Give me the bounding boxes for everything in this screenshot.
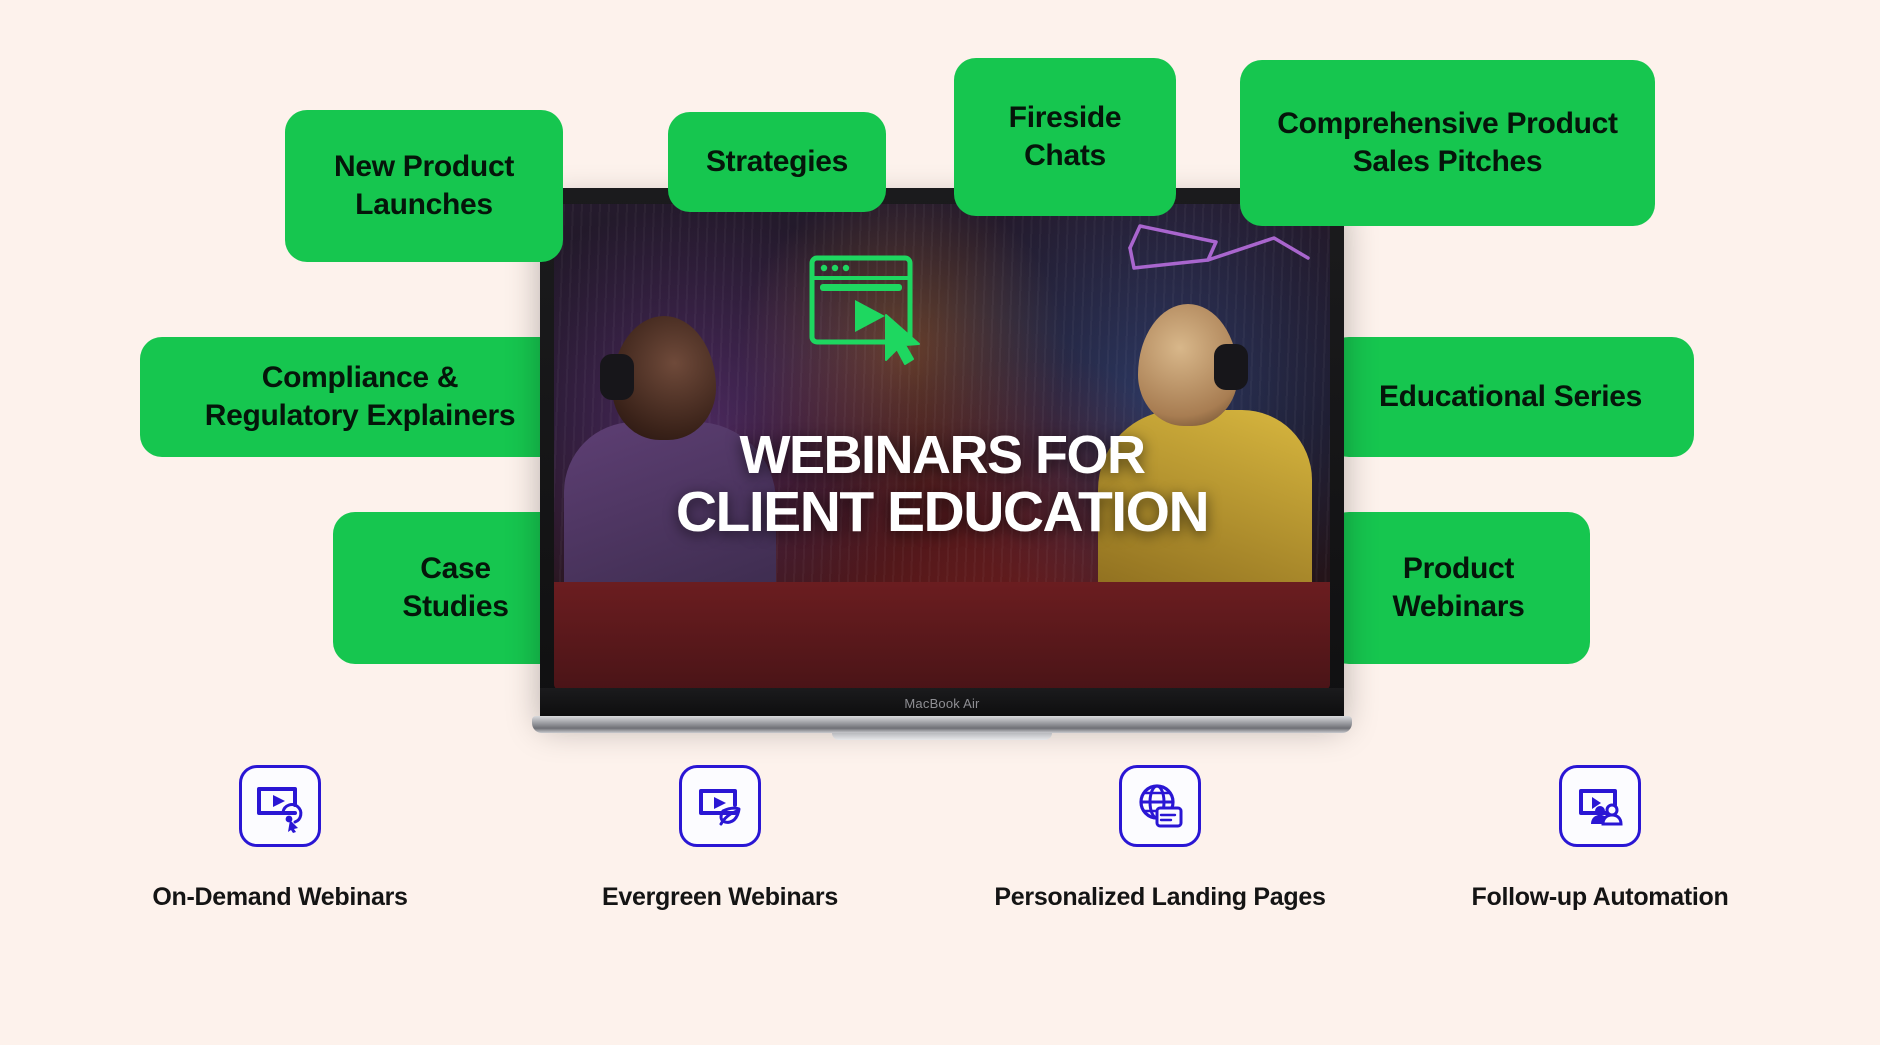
pill-fireside-chats[interactable]: Fireside Chats [954, 58, 1176, 216]
pill-line-2: Chats [1024, 139, 1106, 172]
pill-line-2: Launches [355, 188, 493, 221]
evergreen-webinar-icon [693, 779, 747, 833]
pill-educational-series[interactable]: Educational Series [1327, 337, 1694, 457]
pill-new-product-launches[interactable]: New Product Launches [285, 110, 563, 262]
follow-up-automation-icon [1573, 779, 1627, 833]
pill-text: Comprehensive Product Sales Pitches [1277, 105, 1617, 182]
infographic-canvas: New Product Launches Strategies Fireside… [0, 0, 1880, 1045]
landing-page-globe-icon-box[interactable] [1119, 765, 1201, 847]
on-demand-webinar-icon [253, 779, 307, 833]
pill-comprehensive-product-sales-pitches[interactable]: Comprehensive Product Sales Pitches [1240, 60, 1655, 226]
pill-line-2: Sales Pitches [1353, 145, 1543, 178]
pill-strategies[interactable]: Strategies [668, 112, 886, 212]
laptop-base [532, 716, 1352, 733]
headphones-right-icon [1214, 344, 1248, 390]
laptop-mockup: WEBINARS FOR CLIENT EDUCATION MacBook Ai… [532, 188, 1352, 748]
evergreen-webinar-icon-box[interactable] [679, 765, 761, 847]
pill-text: Educational Series [1379, 378, 1642, 416]
studio-desk [554, 582, 1330, 690]
pill-text: Product Webinars [1392, 550, 1524, 627]
pill-line-1: Case [420, 552, 491, 585]
feature-label: Personalized Landing Pages [994, 883, 1325, 912]
on-demand-webinar-icon-box[interactable] [239, 765, 321, 847]
screen-headline: WEBINARS FOR CLIENT EDUCATION [554, 428, 1330, 541]
browser-play-icon [809, 252, 931, 370]
laptop-base-front-lip [832, 733, 1052, 740]
feature-on-demand-webinars[interactable]: On-Demand Webinars [90, 765, 470, 912]
pill-line-1: Product [1403, 552, 1514, 585]
feature-follow-up-automation[interactable]: Follow-up Automation [1410, 765, 1790, 912]
laptop-model-label: MacBook Air [904, 696, 979, 711]
feature-label: Follow-up Automation [1472, 883, 1729, 912]
pill-line-2: Regulatory Explainers [205, 399, 515, 432]
headline-line-2: CLIENT EDUCATION [554, 483, 1330, 541]
pill-line-1: New Product [334, 150, 514, 183]
pill-line-1: Compliance & [262, 361, 458, 394]
feature-evergreen-webinars[interactable]: Evergreen Webinars [530, 765, 910, 912]
pill-line-1: Comprehensive Product [1277, 107, 1617, 140]
laptop-lid: WEBINARS FOR CLIENT EDUCATION [540, 188, 1344, 716]
feature-row: On-Demand Webinars Evergreen Webinars [0, 765, 1880, 912]
pill-text: Case Studies [402, 550, 508, 627]
laptop-screen: WEBINARS FOR CLIENT EDUCATION [554, 204, 1330, 690]
follow-up-automation-icon-box[interactable] [1559, 765, 1641, 847]
pill-text: Compliance & Regulatory Explainers [205, 359, 515, 436]
pill-line-2: Studies [402, 590, 508, 623]
feature-label: On-Demand Webinars [152, 883, 407, 912]
feature-personalized-landing-pages[interactable]: Personalized Landing Pages [970, 765, 1350, 912]
landing-page-globe-icon [1133, 779, 1187, 833]
laptop-chin: MacBook Air [540, 688, 1344, 718]
pill-text: Strategies [706, 143, 848, 181]
headphones-left-icon [600, 354, 634, 400]
feature-label: Evergreen Webinars [602, 883, 838, 912]
pill-compliance-regulatory-explainers[interactable]: Compliance & Regulatory Explainers [140, 337, 580, 457]
pill-line-2: Webinars [1392, 590, 1524, 623]
headline-line-1: WEBINARS FOR [554, 428, 1330, 483]
pill-text: Fireside Chats [1009, 99, 1122, 176]
pill-line-1: Fireside [1009, 101, 1122, 134]
pill-product-webinars[interactable]: Product Webinars [1327, 512, 1590, 664]
pill-text: New Product Launches [334, 148, 514, 225]
